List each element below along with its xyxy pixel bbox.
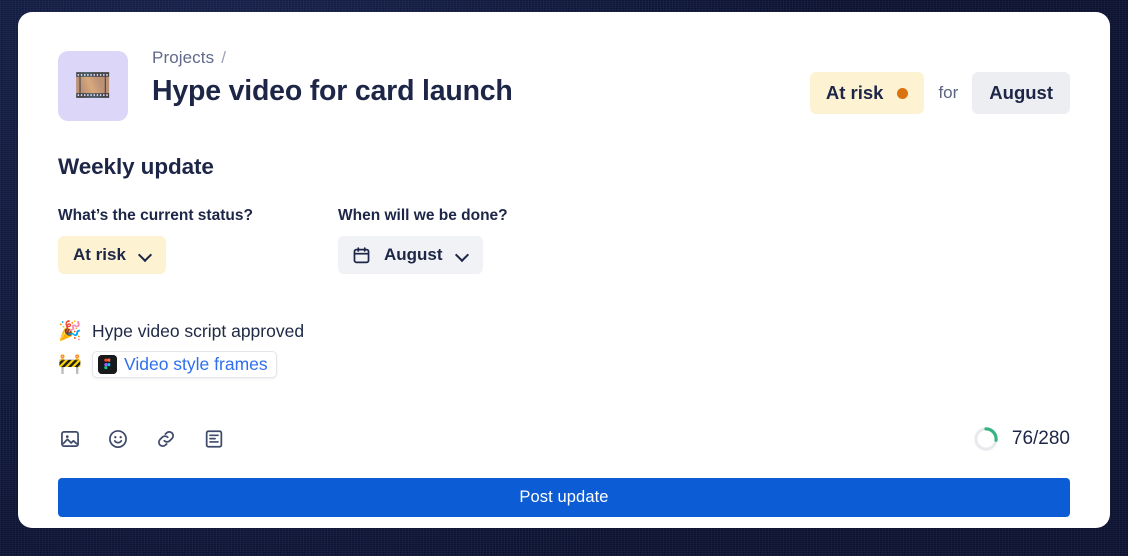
party-popper-emoji: 🎉 — [58, 322, 92, 341]
status-dot-icon — [897, 88, 908, 99]
editor-line: 🎉 Hype video script approved — [58, 316, 1070, 346]
figma-icon — [98, 355, 117, 374]
status-select[interactable]: At risk — [58, 236, 166, 274]
due-date-select[interactable]: August — [338, 236, 483, 274]
breadcrumb-separator: / — [221, 48, 226, 67]
editor-line-text: Hype video script approved — [92, 321, 304, 342]
status-badge[interactable]: At risk — [810, 72, 925, 114]
field-due: When will we be done? August — [338, 207, 508, 274]
breadcrumb: Projects/ — [152, 48, 513, 68]
fields-row: What’s the current status? At risk When … — [58, 207, 1070, 274]
character-count-label: 76/280 — [1012, 428, 1070, 450]
breadcrumb-item-projects[interactable]: Projects — [152, 48, 214, 67]
figma-link-chip[interactable]: Video style frames — [92, 351, 277, 378]
update-editor[interactable]: 🎉 Hype video script approved 🚧 — [58, 316, 1070, 379]
field-due-label: When will we be done? — [338, 207, 508, 225]
month-badge-label: August — [989, 82, 1053, 103]
film-frames-emoji: 🎞️ — [74, 71, 111, 101]
section-title: Weekly update — [58, 154, 1070, 180]
status-badge-label: At risk — [826, 82, 884, 104]
document-icon[interactable] — [202, 427, 226, 451]
post-update-button[interactable]: Post update — [58, 478, 1070, 517]
page-title: Hype video for card launch — [152, 75, 513, 108]
update-card: 🎞️ Projects/ Hype video for card launch … — [18, 12, 1110, 528]
calendar-icon — [352, 246, 371, 265]
card-header: 🎞️ Projects/ Hype video for card launch … — [58, 46, 1070, 121]
project-avatar: 🎞️ — [58, 51, 128, 121]
progress-ring-icon — [973, 426, 999, 452]
construction-sign-emoji: 🚧 — [58, 355, 92, 374]
field-status: What’s the current status? At risk — [58, 207, 338, 274]
figma-link-text: Video style frames — [124, 354, 268, 375]
toolbar-icons — [58, 427, 226, 451]
image-icon[interactable] — [58, 427, 82, 451]
header-status-group: At risk for August — [810, 46, 1070, 114]
emoji-icon[interactable] — [106, 427, 130, 451]
link-icon[interactable] — [154, 427, 178, 451]
editor-toolbar: 76/280 — [58, 426, 1070, 452]
character-counter: 76/280 — [973, 426, 1070, 452]
editor-line: 🚧 Video style frames — [58, 349, 1070, 379]
field-status-label: What’s the current status? — [58, 207, 338, 225]
chevron-down-icon — [456, 249, 468, 261]
status-select-value: At risk — [73, 245, 126, 265]
due-date-value: August — [384, 245, 443, 265]
month-badge[interactable]: August — [972, 72, 1070, 114]
for-label: for — [938, 83, 958, 103]
chevron-down-icon — [139, 249, 151, 261]
title-block: Projects/ Hype video for card launch — [152, 46, 513, 108]
